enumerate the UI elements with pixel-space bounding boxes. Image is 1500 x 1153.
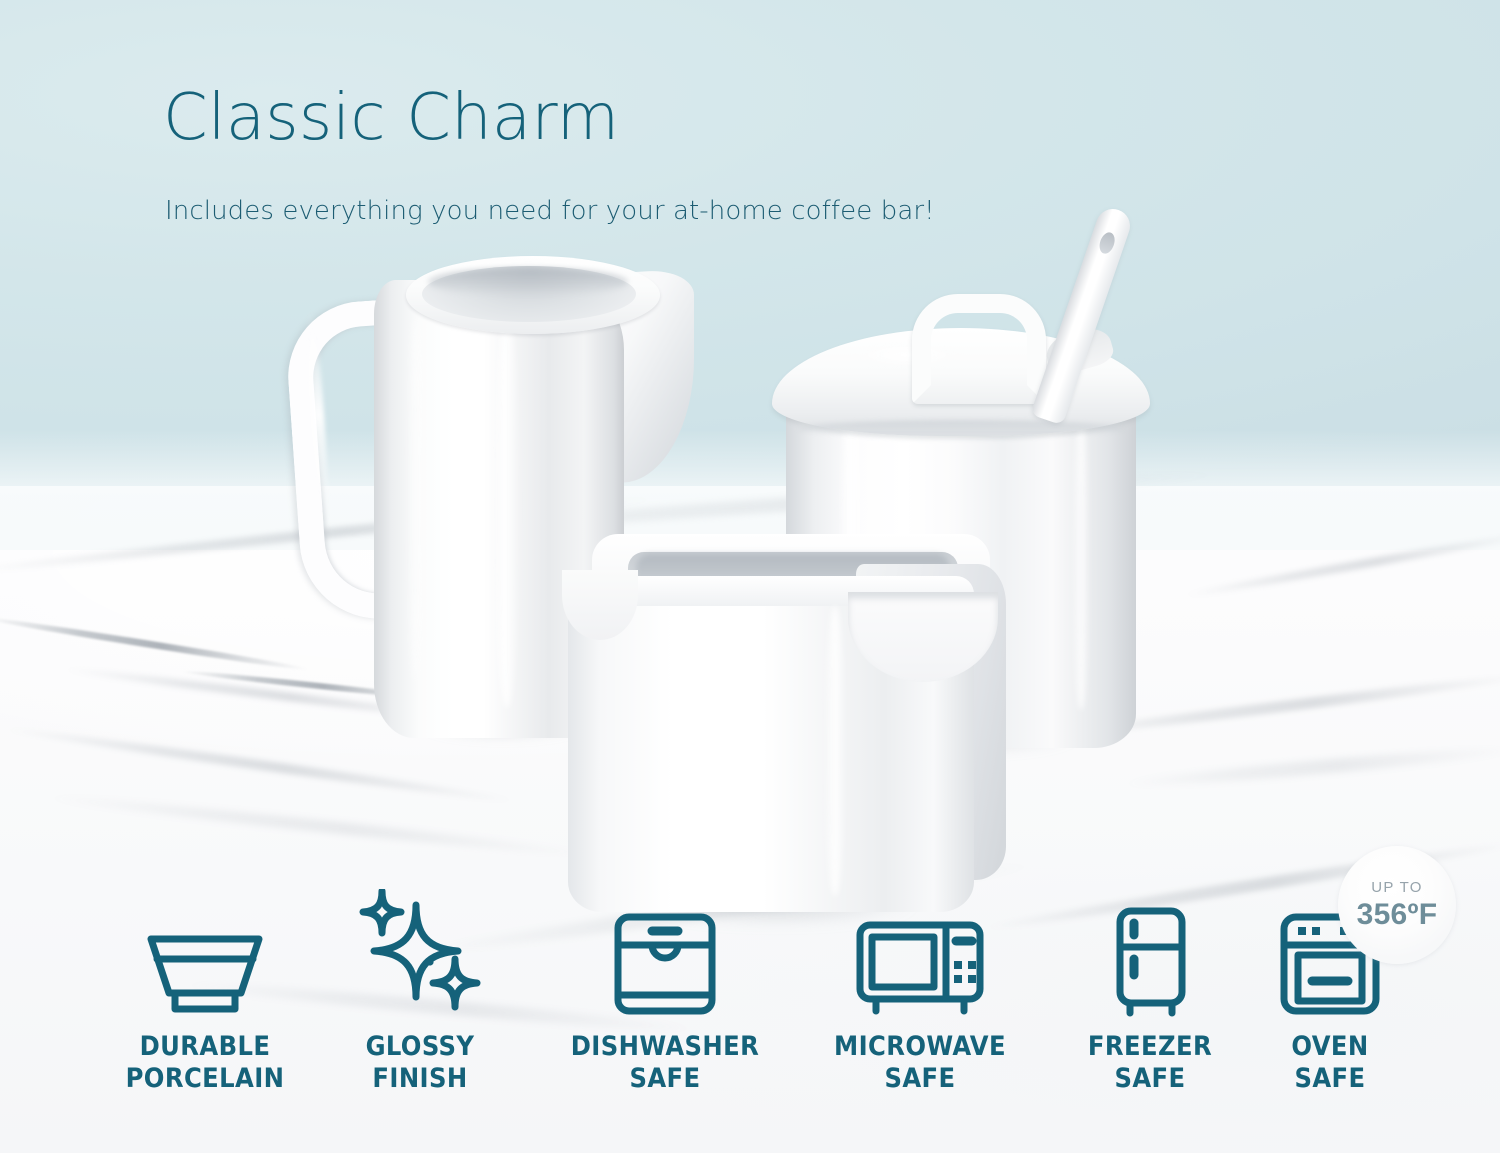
feature-microwave-safe: MICROWAVE SAFE [820,905,1020,1094]
feature-label: GLOSSY FINISH [320,1031,520,1094]
creamer-highlight [408,320,422,680]
feature-label: OVEN SAFE [1230,1031,1430,1094]
feature-icon-row: DURABLE PORCELAIN GLOSSY FINISH [0,905,1500,1125]
bowl-icon [105,905,305,1017]
feature-label: DURABLE PORCELAIN [105,1031,305,1094]
feature-durable-porcelain: DURABLE PORCELAIN [105,905,305,1094]
feature-dishwasher-safe: DISHWASHER SAFE [565,905,765,1094]
badge-value: 356ºF [1357,898,1438,932]
temperature-badge: UP TO 356ºF [1338,846,1456,964]
sugar-packet-caddy [556,524,1026,924]
microwave-icon [820,905,1020,1017]
freezer-icon [1050,905,1250,1017]
feature-label: DISHWASHER SAFE [565,1031,765,1094]
creamer-highlight [494,308,520,708]
product-group [0,0,1500,960]
feature-label: FREEZER SAFE [1050,1031,1250,1094]
badge-prefix: UP TO [1371,879,1423,896]
feature-glossy-finish: GLOSSY FINISH [320,905,520,1094]
sugar-bowl-highlight [1072,410,1090,710]
dishwasher-icon [565,905,765,1017]
feature-label: MICROWAVE SAFE [820,1031,1020,1094]
feature-freezer-safe: FREEZER SAFE [1050,905,1250,1094]
creamer-interior-shadow [428,268,628,296]
sparkle-icon [320,905,520,1017]
caddy-highlight [824,606,846,896]
product-infographic: Classic Charm Includes everything you ne… [0,0,1500,1153]
